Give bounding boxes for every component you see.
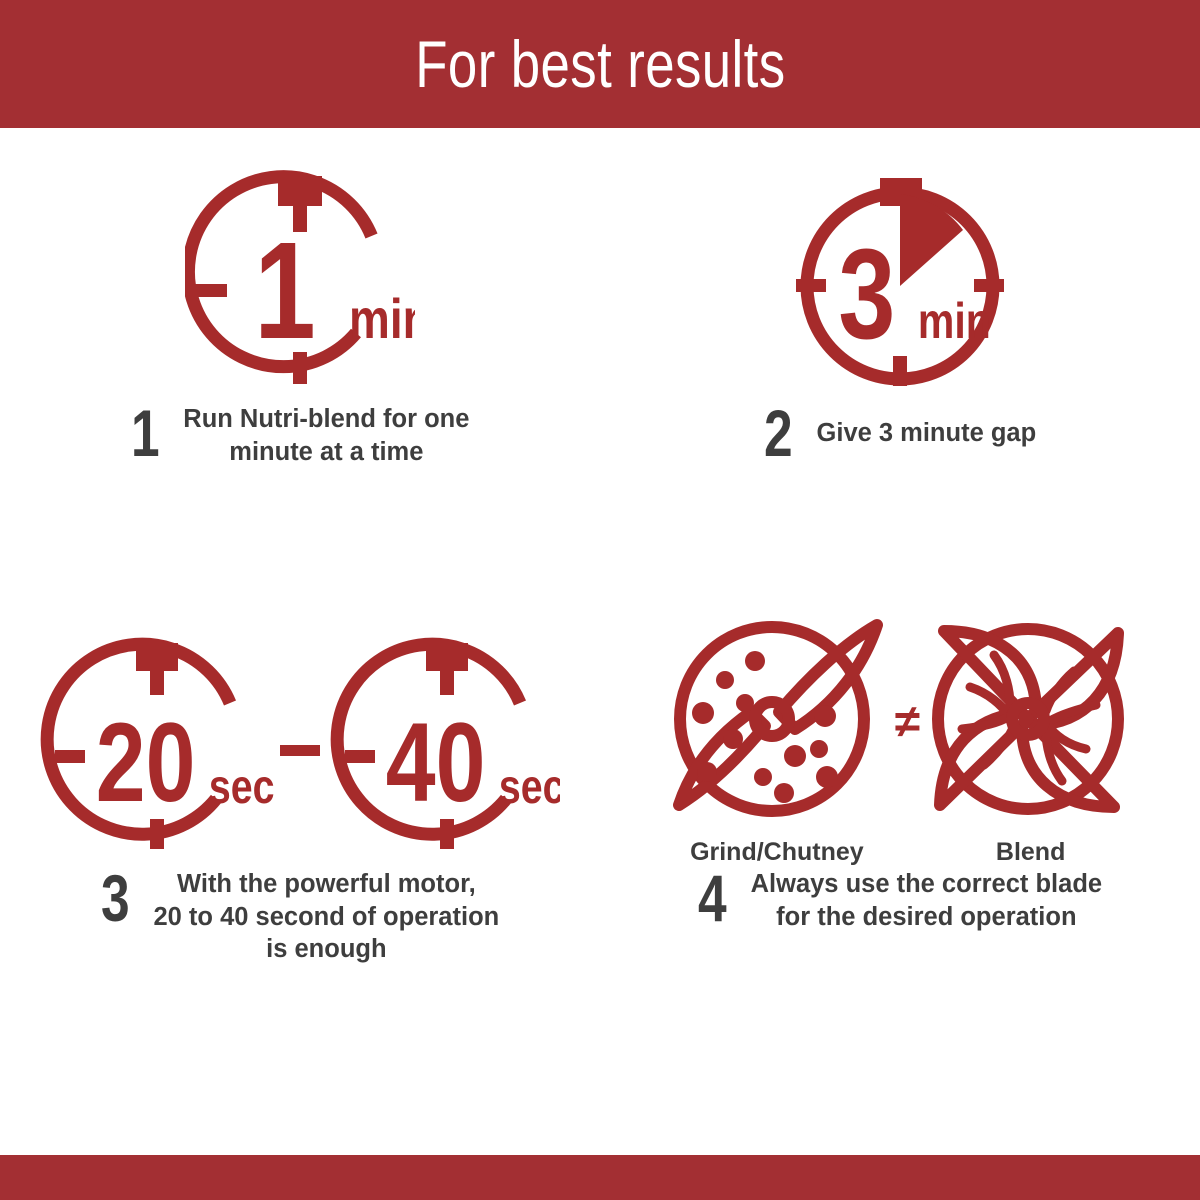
footer-banner xyxy=(0,1155,1200,1200)
step-card-1: 1 min! 1 Run Nutri-blend for one minute … xyxy=(0,158,600,578)
blend-label: Blend xyxy=(996,838,1065,867)
blend-blade-icon xyxy=(928,609,1133,834)
grind-chutney-blade: Grind/Chutney xyxy=(667,609,887,867)
blend-blade: Blend xyxy=(928,609,1133,867)
step-3-caption: 3 With the powerful motor, 20 to 40 seco… xyxy=(0,858,600,966)
svg-text:20: 20 xyxy=(96,701,196,826)
svg-text:min!: min! xyxy=(349,287,415,349)
header-banner: For best results xyxy=(0,0,1200,128)
step-2-text: Give 3 minute gap xyxy=(817,403,1037,450)
timer-range-icons: 20 sec 40 sec xyxy=(0,618,600,858)
step-1-text: Run Nutri-blend for one minute at a time xyxy=(183,403,469,468)
step-3-text-line-2: 20 to 40 second of operation xyxy=(153,901,499,934)
steps-grid: 1 min! 1 Run Nutri-blend for one minute … xyxy=(0,128,1200,1155)
step-card-3: 20 sec 40 sec xyxy=(0,618,600,1088)
timer-1-min-icon: 1 min! xyxy=(0,158,600,393)
page-title: For best results xyxy=(415,31,785,97)
step-1-number: 1 xyxy=(131,403,160,464)
svg-text:sec: sec xyxy=(209,760,275,814)
step-3-text-line-1: With the powerful motor, xyxy=(153,868,499,901)
step-card-2: 3 min 2 Give 3 minute gap xyxy=(600,158,1200,578)
step-4-caption: 4 Always use the correct blade for the d… xyxy=(600,858,1200,933)
step-4-text-line-2: for the desired operation xyxy=(751,901,1102,934)
step-2-text-line-1: Give 3 minute gap xyxy=(817,417,1037,450)
grind-chutney-blade-icon xyxy=(667,609,887,834)
step-card-4: Grind/Chutney ≠ xyxy=(600,618,1200,1088)
step-3-text: With the powerful motor, 20 to 40 second… xyxy=(153,868,499,966)
blade-comparison: Grind/Chutney ≠ xyxy=(600,618,1200,858)
step-1-caption: 1 Run Nutri-blend for one minute at a ti… xyxy=(0,393,600,468)
step-4-text: Always use the correct blade for the des… xyxy=(751,868,1102,933)
svg-text:3: 3 xyxy=(838,222,895,366)
timer-3-min-icon: 3 min xyxy=(600,158,1200,393)
svg-text:min: min xyxy=(918,293,991,349)
svg-text:sec: sec xyxy=(499,760,560,814)
svg-text:1: 1 xyxy=(254,214,315,367)
step-3-number: 3 xyxy=(101,868,130,929)
step-4-number: 4 xyxy=(698,868,727,929)
step-3-text-line-3: is enough xyxy=(153,933,499,966)
step-2-caption: 2 Give 3 minute gap xyxy=(600,393,1200,464)
svg-text:40: 40 xyxy=(386,701,486,826)
not-equal-icon: ≠ xyxy=(895,698,920,744)
step-1-text-line-2: minute at a time xyxy=(183,436,469,469)
step-1-text-line-1: Run Nutri-blend for one xyxy=(183,403,469,436)
step-4-text-line-1: Always use the correct blade xyxy=(751,868,1102,901)
step-2-number: 2 xyxy=(764,403,793,464)
